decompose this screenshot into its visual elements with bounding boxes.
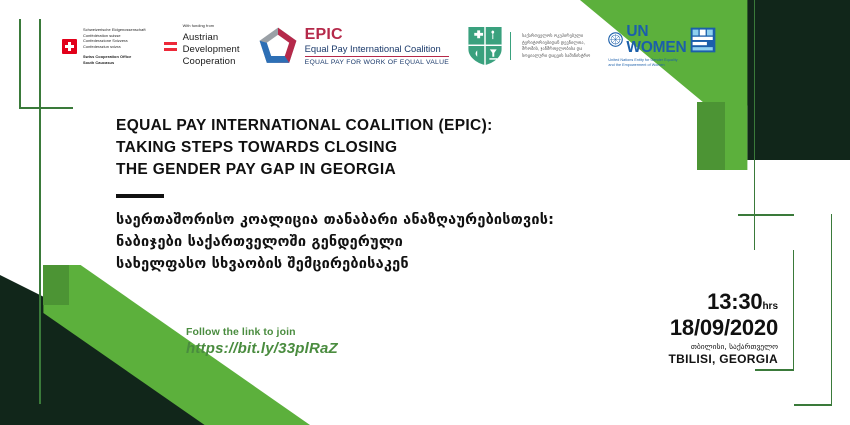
- un-women-tagline: United Nations Entity for Gender Equalit…: [608, 58, 677, 68]
- epic-pentagon-icon: [258, 26, 298, 66]
- swiss-logo-text: Schweizerische Eidgenossenschaft Confédé…: [83, 27, 146, 65]
- title-english-line-3: THE GENDER PAY GAP IN GEORGIA: [116, 159, 554, 181]
- title-georgian-line-1: საერთაშორისო კოალიცია თანაბარი ანაზღაურე…: [116, 209, 554, 231]
- swiss-office-line-2: South Caucasus: [83, 60, 146, 66]
- event-date: 18/09/2020: [669, 315, 778, 340]
- join-link-label: Follow the link to join: [186, 325, 338, 339]
- event-details-block: 13:30hrs 18/09/2020 თბილისი, საქართველო …: [669, 290, 778, 367]
- event-time-unit: hrs: [762, 301, 778, 312]
- epic-title: EPIC: [305, 27, 449, 43]
- bottom-left-green-band-shade: [43, 265, 69, 305]
- ministry-text-line-2: ტერიტორიებიდან დევნილთა,: [522, 40, 590, 47]
- ministry-text-line-3: შრომის, ჯანმრთელობისა და: [522, 46, 590, 53]
- austria-logo-text: With funding from Austrian Development C…: [183, 24, 240, 68]
- logo-austrian-development-cooperation: With funding from Austrian Development C…: [164, 24, 240, 68]
- logo-epic: EPIC Equal Pay International Coalition E…: [258, 26, 449, 66]
- epic-tagline: EQUAL PAY FOR WORK OF EQUAL VALUE: [305, 57, 449, 66]
- frame-line-right-elbow-bottom: [755, 369, 794, 371]
- top-right-green-band-shade: [697, 102, 725, 170]
- un-women-bars-icon: [690, 27, 716, 53]
- title-georgian-line-3: სახელფასო სხვაობის შემცირებისაკენ: [116, 253, 554, 275]
- austria-name: Austrian Development Cooperation: [183, 32, 240, 68]
- event-city-georgian: თბილისი, საქართველო: [669, 342, 778, 352]
- event-banner: Schweizerische Eidgenossenschaft Confédé…: [0, 0, 850, 425]
- swiss-line-rm: Confederaziun svizra: [83, 44, 146, 50]
- logo-swiss-cooperation: Schweizerische Eidgenossenschaft Confédé…: [62, 27, 146, 65]
- frame-line-right-bottom: [794, 404, 832, 406]
- frame-line-right-elbow-top: [738, 214, 794, 216]
- title-divider-rule: [116, 194, 164, 198]
- swiss-cross-shield-icon: [62, 39, 77, 54]
- austria-name-line-2: Development: [183, 44, 240, 56]
- un-emblem-icon: [608, 32, 623, 47]
- frame-line-left-outer: [19, 19, 21, 109]
- ministry-text-line-4: სოციალური დაცვის სამინისტრო: [522, 53, 590, 60]
- title-georgian: საერთაშორისო კოალიცია თანაბარი ანაზღაურე…: [116, 209, 554, 275]
- event-time: 13:30: [707, 289, 762, 314]
- title-english-line-1: EQUAL PAY INTERNATIONAL COALITION (EPIC)…: [116, 115, 554, 137]
- frame-line-left-elbow: [19, 107, 73, 109]
- austria-name-line-3: Cooperation: [183, 56, 240, 68]
- un-women-wordmark-row: UN WOMEN: [608, 24, 715, 56]
- frame-line-right-inner: [793, 250, 795, 370]
- epic-subtitle: Equal Pay International Coalition: [305, 43, 449, 57]
- epic-logo-text: EPIC Equal Pay International Coalition E…: [305, 27, 449, 66]
- austria-funding-label: With funding from: [183, 24, 240, 29]
- frame-line-left-inner: [39, 19, 41, 404]
- austria-flag-icon: [164, 42, 177, 51]
- un-women-wordmark: UN WOMEN: [626, 24, 686, 56]
- ministry-shield-icon: [467, 26, 503, 66]
- frame-line-right-outer: [831, 214, 833, 404]
- title-english: EQUAL PAY INTERNATIONAL COALITION (EPIC)…: [116, 115, 554, 181]
- un-women-word-women: WOMEN: [626, 40, 686, 56]
- ministry-text-line-1: საქართველოს ოკუპირებული: [522, 33, 590, 40]
- event-time-row: 13:30hrs: [669, 290, 778, 313]
- ministry-logo-divider: [510, 32, 511, 60]
- title-english-line-2: TAKING STEPS TOWARDS CLOSING: [116, 137, 554, 159]
- title-georgian-line-2: ნაბიჯები საქართველოში გენდერული: [116, 231, 554, 253]
- un-women-tagline-line-2: and the Empowerment of Women: [608, 63, 677, 68]
- ministry-logo-text: საქართველოს ოკუპირებული ტერიტორიებიდან დ…: [522, 33, 590, 60]
- join-link-url[interactable]: https://bit.ly/33plRaZ: [186, 340, 338, 357]
- logo-georgia-ministry: საქართველოს ოკუპირებული ტერიტორიებიდან დ…: [467, 26, 590, 66]
- logo-un-women: UN WOMEN United Nations Entity for Gende…: [608, 24, 715, 68]
- un-women-word-un: UN: [626, 24, 686, 40]
- austria-name-line-1: Austrian: [183, 32, 240, 44]
- event-city-english: TBILISI, GEORGIA: [669, 352, 778, 367]
- join-link-block[interactable]: Follow the link to join https://bit.ly/3…: [186, 325, 338, 357]
- partner-logo-strip: Schweizerische Eidgenossenschaft Confédé…: [62, 24, 716, 68]
- headline-block: EQUAL PAY INTERNATIONAL COALITION (EPIC)…: [116, 115, 554, 275]
- frame-line-right-top: [754, 0, 756, 250]
